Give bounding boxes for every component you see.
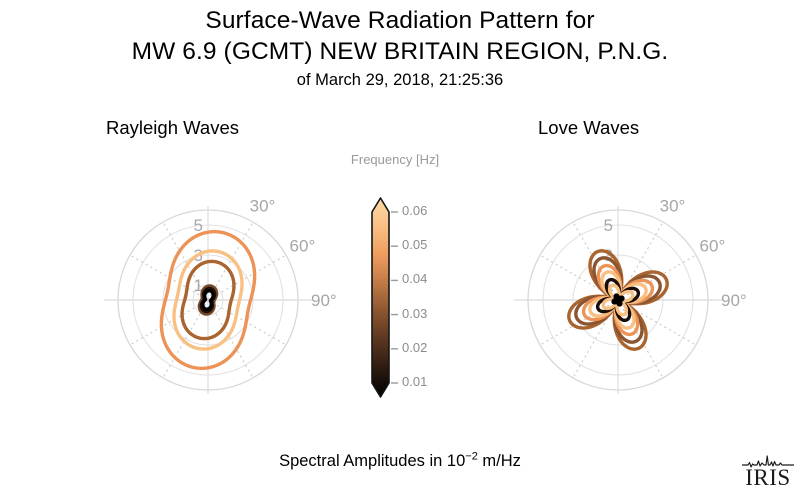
colorbar-tick-label: 0.04 — [402, 271, 427, 286]
colorbar-tick-label: 0.01 — [402, 374, 427, 389]
angle-tick-label-30: 30° — [250, 197, 276, 216]
colorbar: Frequency [Hz] 0.060.050.040.030.020.01 — [330, 152, 460, 402]
colorbar-title: Frequency [Hz] — [330, 152, 460, 167]
colorbar-tick-label: 0.05 — [402, 237, 427, 252]
radial-tick-label: 5 — [604, 216, 613, 235]
love-pattern-curves — [569, 251, 667, 349]
colorbar-gradient — [362, 190, 422, 405]
colorbar-tick-label: 0.02 — [402, 340, 427, 355]
figure-canvas: Surface-Wave Radiation Pattern for MW 6.… — [0, 0, 800, 496]
iris-logo: IRIS — [740, 452, 796, 492]
angle-tick-label-90: 90° — [721, 291, 747, 310]
colorbar-bar — [372, 198, 389, 397]
colorbar-tick-label: 0.06 — [402, 203, 427, 218]
love-polar-axes: 13530°60°90° — [514, 197, 747, 394]
angle-tick-label-30: 30° — [660, 197, 686, 216]
pattern-curve-f0.01 — [613, 295, 623, 305]
angle-tick-label-60: 60° — [700, 237, 726, 256]
angle-tick-label-60: 60° — [290, 237, 316, 256]
colorbar-tick-label: 0.03 — [402, 306, 427, 321]
caption-exponent: −2 — [465, 451, 478, 463]
caption-suffix: m/Hz — [478, 452, 521, 470]
figure-caption: Spectral Amplitudes in 10−2 m/Hz — [0, 452, 800, 471]
iris-wordmark: IRIS — [745, 465, 790, 490]
caption-prefix: Spectral Amplitudes in 10 — [279, 452, 465, 470]
